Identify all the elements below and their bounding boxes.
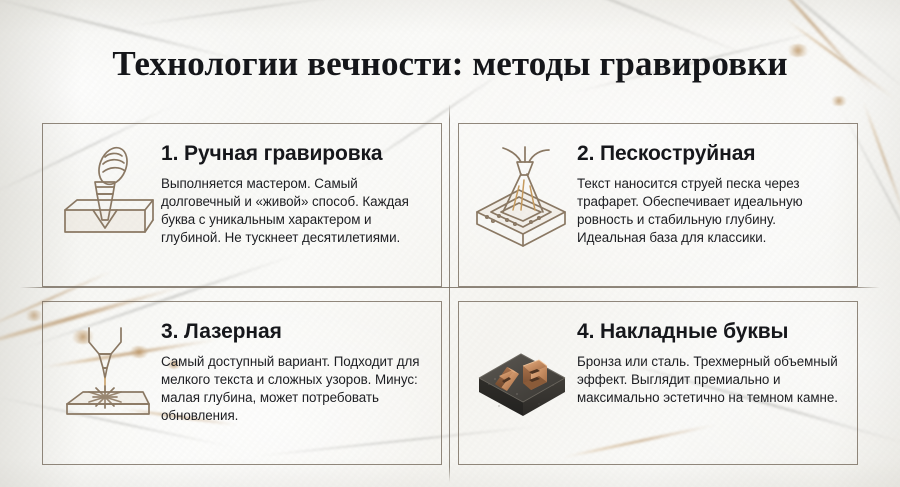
method-card-sandblasting[interactable]: 2. Пескоструйная Текст наносится струей … xyxy=(458,123,858,287)
card-description: Самый доступный вариант. Подходит для ме… xyxy=(161,353,429,426)
card-description: Выполняется мастером. Самый долговечный … xyxy=(161,175,429,248)
card-heading: 2. Пескоструйная xyxy=(577,142,845,166)
card-description: Бронза или сталь. Трехмерный объемный эф… xyxy=(577,353,845,408)
card-heading: 3. Лазерная xyxy=(161,320,429,344)
infographic-canvas: Технологии вечности: методы гравировки xyxy=(0,0,900,487)
card-description: Текст наносится струей песка через трафа… xyxy=(577,175,845,248)
card-body: 1. Ручная гравировка Выполняется мастеро… xyxy=(161,138,429,247)
method-card-raised-letters[interactable]: 4. Накладные буквы Бронза или сталь. Тре… xyxy=(458,301,858,465)
laser-head-icon xyxy=(53,322,157,426)
page-title: Технологии вечности: методы гравировки xyxy=(0,44,900,84)
method-card-hand-engraving[interactable]: 1. Ручная гравировка Выполняется мастеро… xyxy=(42,123,442,287)
sandblast-nozzle-icon xyxy=(469,144,573,248)
hand-graver-chisel-icon xyxy=(53,144,157,248)
card-heading: 1. Ручная гравировка xyxy=(161,142,429,166)
method-card-laser[interactable]: 3. Лазерная Самый доступный вариант. Под… xyxy=(42,301,442,465)
card-body: 3. Лазерная Самый доступный вариант. Под… xyxy=(161,316,429,425)
card-body: 2. Пескоструйная Текст наносится струей … xyxy=(577,138,845,247)
method-card-grid: 1. Ручная гравировка Выполняется мастеро… xyxy=(42,123,858,465)
card-body: 4. Накладные буквы Бронза или сталь. Тре… xyxy=(577,316,845,407)
raised-bronze-letters-icon xyxy=(469,322,573,426)
card-heading: 4. Накладные буквы xyxy=(577,320,845,344)
